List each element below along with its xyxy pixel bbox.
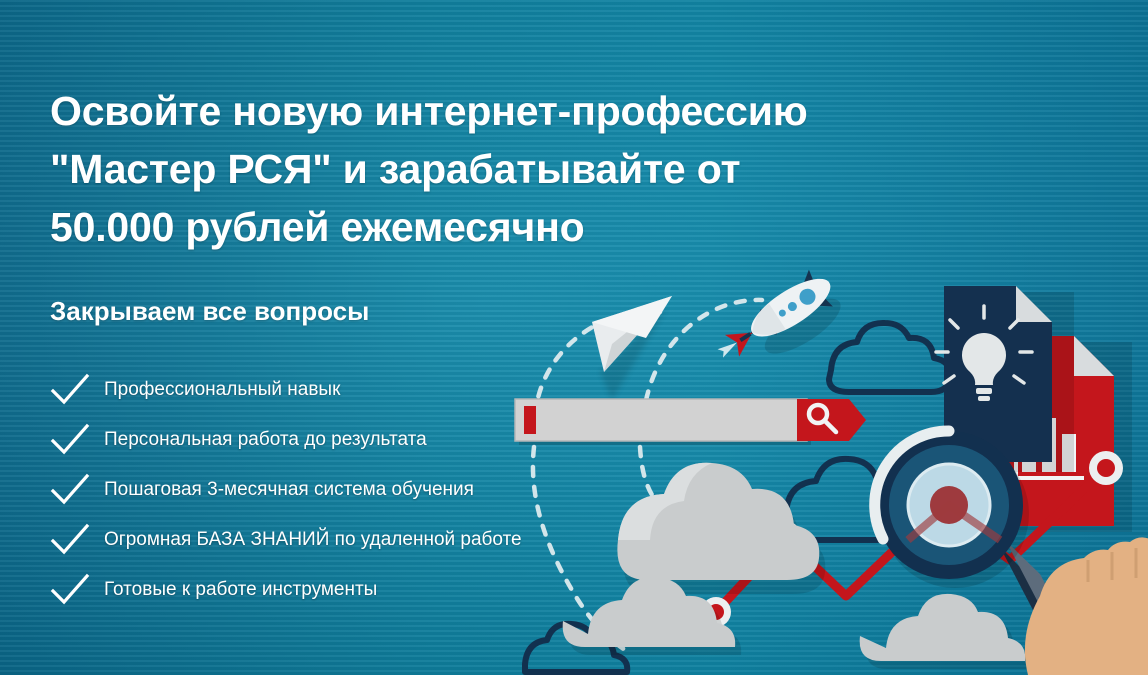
list-item-label: Пошаговая 3-месячная система обучения xyxy=(104,479,474,501)
text-column: Освойте новую интернет-профессию "Мастер… xyxy=(50,55,750,615)
hand-icon xyxy=(1025,537,1148,675)
benefits-list: Профессиональный навык Персональная рабо… xyxy=(50,365,750,615)
promo-banner: Освойте новую интернет-профессию "Мастер… xyxy=(0,0,1148,675)
check-icon xyxy=(50,573,90,607)
outlined-cloud-icon xyxy=(829,323,950,392)
check-icon xyxy=(50,523,90,557)
list-item-label: Огромная БАЗА ЗНАНИЙ по удаленной работе xyxy=(104,529,522,551)
list-item: Готовые к работе инструменты xyxy=(50,565,750,615)
list-item: Профессиональный навык xyxy=(50,365,750,415)
check-icon xyxy=(50,373,90,407)
check-icon xyxy=(50,473,90,507)
list-item: Пошаговая 3-месячная система обучения xyxy=(50,465,750,515)
list-item-label: Профессиональный навык xyxy=(104,379,340,401)
headline-line-3: 50.000 рублей ежемесячно xyxy=(50,204,585,250)
headline-line-1: Освойте новую интернет-профессию xyxy=(50,82,750,140)
search-button[interactable] xyxy=(797,399,866,441)
subheading: Закрываем все вопросы xyxy=(50,296,750,327)
page-title: Освойте новую интернет-профессию "Мастер… xyxy=(50,82,750,256)
cloud-icon xyxy=(860,594,1032,669)
list-item-label: Готовые к работе инструменты xyxy=(104,579,377,601)
list-item: Огромная БАЗА ЗНАНИЙ по удаленной работе xyxy=(50,515,750,565)
check-icon xyxy=(50,423,90,457)
list-item: Персональная работа до результата xyxy=(50,415,750,465)
list-item-label: Персональная работа до результата xyxy=(104,429,427,451)
headline-line-2: "Мастер РСЯ" и зарабатывайте от xyxy=(50,140,750,198)
